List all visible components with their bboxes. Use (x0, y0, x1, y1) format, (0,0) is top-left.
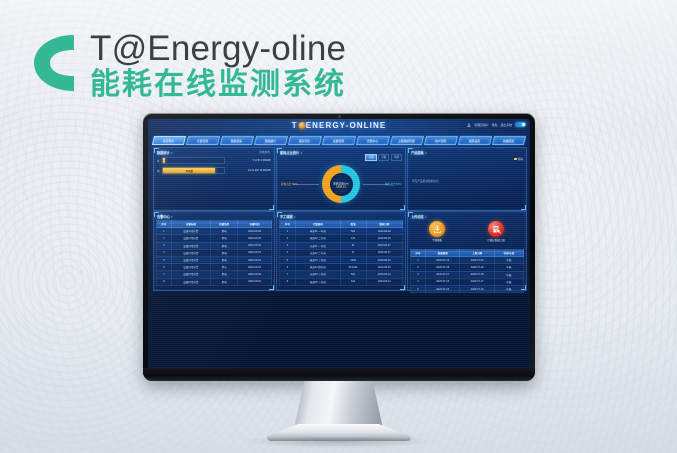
panel-data-statistics: 数据统计▾ 用电用水 水 0 m³/h 0.00kWh 电 用电量 13.21 … (153, 147, 275, 211)
nav-item-5[interactable]: 设备管理 (322, 136, 356, 145)
donut-period-tabs: 日报 月报 年报 (365, 154, 402, 161)
monitor-chin (143, 368, 535, 381)
table-row[interactable]: 42020-07-162020-07-17年报 (411, 278, 524, 285)
cell-0-0: 1 (411, 257, 426, 264)
panel-upload-title: 上传动态▾ (411, 214, 427, 219)
table-row[interactable]: 1电表01 一车间5232020-06-18 (280, 228, 403, 235)
download-template-action[interactable]: 下载模板 (429, 221, 445, 247)
column-header-1: 告警标题 (171, 221, 210, 228)
tab-yearly[interactable]: 年报 (391, 154, 402, 161)
bar-values-0: 0 m³/h 0.00kWh (225, 159, 271, 162)
cell-5-1: 电表04 四车间 (295, 264, 340, 271)
cell-2-3: 年报 (494, 271, 523, 278)
column-header-1: 数据周期 (426, 250, 460, 257)
panel-manual-title: 手工填报▾ (280, 214, 296, 219)
panel-manual-entry: 手工填报▾ 序号计量器具数值填报日期 1电表01 一车间5232020-06-1… (276, 211, 406, 291)
nav-item-6[interactable]: 告警中心 (356, 136, 390, 145)
cell-0-2: 523 (340, 228, 366, 235)
donut-label-right: 耗水占比 50% (385, 182, 401, 186)
table-row[interactable]: 5电表03 三车间12292020-06-15 (280, 256, 403, 263)
cell-6-1: 设备异常告警 (171, 271, 210, 278)
nav-label-1: 计量管理 (197, 139, 208, 143)
legend-label: 能耗 (518, 157, 523, 161)
cell-4-1: 设备异常告警 (171, 256, 210, 263)
table-row[interactable]: 32020-07-172020-07-18年报 (411, 271, 524, 278)
panel-upload-activity: 上传动态▾ 下载模板 已确认数据上报 序号数据周期上报日期状态/年度 12 (407, 211, 527, 291)
chevron-down-icon[interactable]: ▾ (425, 216, 426, 219)
cell-0-2: 用电 (211, 228, 238, 235)
cell-2-1: 2020-07-17 (426, 271, 460, 278)
panel-prod-title-text: 产品能耗 (411, 151, 424, 155)
cell-6-0: 7 (280, 271, 296, 278)
cell-3-1: 设备异常告警 (171, 249, 210, 256)
table-row[interactable]: 6电表04 四车间56.10112020-06-15 (280, 264, 403, 271)
cell-7-0: 8 (280, 278, 296, 285)
cell-1-1: 设备异常告警 (171, 235, 210, 242)
cell-4-1: 2020-07-15 (426, 285, 460, 292)
panel-alarm-title-text: 告警中心 (157, 215, 170, 219)
bar-values-1: 13.21 kW 13.00kWh (225, 169, 271, 172)
donut-center-value: 1256.12 (330, 186, 352, 189)
logout-label[interactable]: 退出系统 (500, 123, 512, 127)
nav-item-8[interactable]: 用户管理 (424, 136, 458, 145)
cell-1-0: 2 (411, 264, 426, 271)
nav-item-9[interactable]: 权限设置 (458, 136, 492, 145)
monitor-stand-neck (294, 381, 384, 431)
cell-4-1: 电表03 三车间 (295, 256, 340, 263)
chevron-down-icon[interactable]: ▾ (171, 152, 172, 155)
nav-item-0[interactable]: 首页概览 (152, 136, 186, 145)
table-row[interactable]: 8设备异常告警用电2020-06-02 (157, 278, 272, 285)
nav-label-9: 权限设置 (470, 139, 481, 143)
column-header-1: 计量器具 (295, 221, 340, 228)
panel-prod-title: 产品能耗▾ (411, 150, 427, 155)
cell-1-1: 2020-07-18 (426, 264, 460, 271)
cell-1-0: 2 (280, 235, 296, 242)
nav-item-1[interactable]: 计量管理 (186, 136, 220, 145)
chevron-down-icon[interactable]: ▾ (171, 216, 172, 219)
bar-row: 水 0 m³/h 0.00kWh (157, 157, 271, 164)
cell-3-2: 2020-07-17 (460, 278, 494, 285)
table-row[interactable]: 2电表02 二车间1312020-06-18 (280, 235, 403, 242)
table-header-row: 序号告警标题告警类型告警时间 (157, 221, 272, 228)
table-row[interactable]: 4水表02 二车间312020-06-17 (280, 249, 403, 256)
bar-fill-text-1: 用电量 (185, 169, 193, 173)
bar-rows: 水 0 m³/h 0.00kWh 电 用电量 13.21 kW 13.00kWh (157, 157, 271, 177)
monitor-stand-shadow (244, 437, 434, 448)
table-row[interactable]: 7设备异常告警用电2020-06-02 (157, 271, 272, 278)
chevron-down-icon[interactable]: ▾ (294, 216, 295, 219)
confirm-upload-action[interactable]: 已确认数据上报 (487, 221, 505, 247)
panel-upload-title-text: 上传动态 (411, 215, 424, 219)
panel-alarm-center: 告警中心▾ 序号告警标题告警类型告警时间 1设备异常告警用电2020-06-05… (153, 211, 275, 291)
donut-center-text: 能耗总量(tce) 1256.12 (330, 183, 352, 190)
column-header-0: 序号 (280, 221, 296, 228)
cell-0-3: 2020-06-18 (366, 228, 402, 235)
panel-bar-subtitle: 用电用水 (259, 150, 270, 154)
at-logo-icon (298, 122, 305, 129)
cell-2-2: 21 (340, 242, 366, 249)
cell-4-3: 2020-06-15 (366, 256, 402, 263)
nav-label-5: 设备管理 (333, 139, 344, 143)
alarm-table: 序号告警标题告警类型告警时间 1设备异常告警用电2020-06-052设备异常告… (156, 220, 272, 286)
table-row[interactable]: 8电表05 三车间6122020-06-11 (280, 278, 403, 285)
dashboard-screen: TENERGY-ONLINE 管理员用户 角色 退出系统 首页概览 计量管理 数… (148, 119, 530, 369)
table-row[interactable]: 12020-07-192020-07-20年报 (411, 257, 524, 264)
cell-1-3: 2020-06-05 (238, 235, 272, 242)
panel-donut-title-text: 能耗占比统计 (280, 151, 299, 155)
cell-2-1: 水表01 一车间 (295, 242, 340, 249)
nav-label-0: 首页概览 (163, 139, 174, 143)
cell-5-0: 6 (157, 264, 172, 271)
table-row[interactable]: 7水表03 三车间5212020-06-13 (280, 271, 403, 278)
cell-6-3: 2020-06-02 (238, 271, 272, 278)
panel-prod-legend: 能耗 (514, 157, 523, 161)
dashboard-title: TENERGY-ONLINE (292, 121, 387, 130)
cell-5-1: 设备异常告警 (171, 264, 210, 271)
cell-2-1: 设备异常告警 (171, 242, 210, 249)
nav-item-2[interactable]: 数据采集 (220, 136, 254, 145)
table-header-row: 序号计量器具数值填报日期 (280, 221, 403, 228)
cell-1-1: 电表02 二车间 (295, 235, 340, 242)
table-header-row: 序号数据周期上报日期状态/年度 (411, 250, 524, 257)
column-header-2: 告警类型 (211, 221, 238, 228)
dashboard-title-suffix: ENERGY-ONLINE (306, 121, 387, 130)
nav-label-7: 上报数据管理 (399, 139, 416, 143)
cell-7-0: 8 (157, 278, 172, 285)
cell-3-2: 用电 (211, 249, 238, 256)
webcam-dot (338, 115, 341, 118)
cell-6-2: 521 (340, 271, 366, 278)
cell-3-0: 4 (411, 278, 426, 285)
manual-table: 序号计量器具数值填报日期 1电表01 一车间5232020-06-182电表02… (279, 220, 403, 286)
panel-manual-title-text: 手工填报 (280, 215, 293, 219)
cell-4-2: 1229 (340, 256, 366, 263)
user-role[interactable]: 角色 (492, 123, 498, 127)
cell-4-2: 2020-07-16 (460, 285, 494, 292)
cell-0-3: 年报 (494, 257, 523, 264)
cell-5-2: 用水 (211, 264, 238, 271)
table-row[interactable]: 1设备异常告警用电2020-06-05 (157, 228, 272, 235)
cell-3-1: 2020-07-16 (426, 278, 460, 285)
table-row[interactable]: 2设备异常告警用电2020-06-05 (157, 235, 272, 242)
cell-0-3: 2020-06-05 (238, 228, 272, 235)
table-row[interactable]: 5设备异常告警用电2020-06-03 (157, 256, 272, 263)
upload-doc-icon (488, 221, 504, 237)
column-header-3: 状态/年度 (494, 250, 523, 257)
dashboard-header: TENERGY-ONLINE 管理员用户 角色 退出系统 (148, 119, 530, 135)
upload-table: 序号数据周期上报日期状态/年度 12020-07-192020-07-20年报2… (410, 249, 524, 293)
cell-3-2: 31 (340, 249, 366, 256)
nav-item-10[interactable]: 系统配置 (492, 136, 526, 145)
download-icon (429, 221, 445, 237)
cell-3-3: 年报 (494, 278, 523, 285)
banner-headline: T@Energy-oline 能耗在线监测系统 (24, 14, 444, 104)
donut-chart: 耗电占比 50% 耗水占比 50% 能耗总量(tce) 1256.12 (277, 165, 405, 207)
nav-label-8: 用户管理 (436, 139, 447, 143)
cell-4-2: 用电 (211, 256, 238, 263)
user-icon (467, 123, 471, 127)
cell-2-0: 3 (280, 242, 296, 249)
cell-4-0: 5 (280, 256, 296, 263)
page-subtitle: 能耗在线监测系统 (90, 68, 346, 102)
cell-2-3: 2020-06-04 (238, 242, 272, 249)
column-header-0: 序号 (411, 250, 426, 257)
bar-fill-1: 用电量 (163, 168, 215, 173)
bar-track-1: 用电量 (162, 167, 225, 174)
tab-daily[interactable]: 日报 (365, 154, 376, 161)
cell-3-0: 4 (280, 249, 296, 256)
column-header-2: 上报日期 (460, 250, 494, 257)
bar-track-0 (162, 157, 225, 164)
cell-7-2: 用电 (211, 278, 238, 285)
table-row[interactable]: 4设备异常告警用电2020-06-04 (157, 249, 272, 256)
column-header-2: 数值 (340, 221, 366, 228)
cell-3-0: 4 (157, 249, 172, 256)
cell-7-3: 2020-06-11 (366, 278, 402, 285)
cell-3-3: 2020-06-04 (238, 249, 272, 256)
table-row[interactable]: 22020-07-182020-07-19年报 (411, 264, 524, 271)
table-row[interactable]: 3水表01 一车间212020-06-17 (280, 242, 403, 249)
nav-item-3[interactable]: 能耗统计 (254, 136, 288, 145)
cell-0-0: 1 (280, 228, 296, 235)
cell-2-3: 2020-06-17 (366, 242, 402, 249)
cell-0-1: 电表01 一车间 (295, 228, 340, 235)
cell-1-2: 用电 (211, 235, 238, 242)
nav-label-2: 数据采集 (231, 139, 242, 143)
nav-label-3: 能耗统计 (265, 139, 276, 143)
chevron-down-icon[interactable]: ▾ (425, 152, 426, 155)
cell-1-2: 2020-07-19 (460, 264, 494, 271)
column-header-3: 告警时间 (238, 221, 272, 228)
panel-product-energy: 产品能耗▾ 能耗 暂无产品能耗数据信息 (407, 147, 527, 211)
cell-6-1: 水表03 三车间 (295, 271, 340, 278)
cell-7-1: 设备异常告警 (171, 278, 210, 285)
user-area[interactable]: 管理员用户 角色 退出系统 (467, 122, 526, 127)
column-header-3: 填报日期 (366, 221, 402, 228)
upload-actions: 下载模板 已确认数据上报 (408, 221, 526, 247)
cell-2-0: 3 (157, 242, 172, 249)
panel-prod-empty-text: 暂无产品能耗数据信息 (412, 179, 439, 183)
cell-5-0: 6 (280, 264, 296, 271)
theme-toggle[interactable] (515, 122, 526, 127)
nav-label-4: 报表分析 (299, 139, 310, 143)
cell-4-0: 5 (411, 285, 426, 292)
cell-0-2: 2020-07-20 (460, 257, 494, 264)
cell-0-0: 1 (157, 228, 172, 235)
column-header-0: 序号 (157, 221, 172, 228)
monitor: TENERGY-ONLINE 管理员用户 角色 退出系统 首页概览 计量管理 数… (143, 113, 535, 381)
nav-label-6: 告警中心 (367, 139, 378, 143)
cell-7-3: 2020-06-02 (238, 278, 272, 285)
donut-label-left: 耗电占比 50% (281, 182, 297, 186)
cell-0-1: 设备异常告警 (171, 228, 210, 235)
table-row[interactable]: 3设备异常告警用电2020-06-04 (157, 242, 272, 249)
panel-bar-title-text: 数据统计 (157, 151, 170, 155)
tab-monthly[interactable]: 月报 (378, 154, 389, 161)
confirm-upload-label: 已确认数据上报 (487, 238, 505, 242)
panel-alarm-title: 告警中心▾ (157, 214, 173, 219)
cell-5-3: 2020-06-15 (366, 264, 402, 271)
cell-4-3: 2020-06-03 (238, 256, 272, 263)
cell-2-2: 2020-07-18 (460, 271, 494, 278)
main-nav: 首页概览 计量管理 数据采集 能耗统计 报表分析 设备管理 告警中心 上报数据管… (153, 136, 525, 145)
cell-1-2: 131 (340, 235, 366, 242)
cell-4-3: 年报 (494, 285, 523, 292)
cell-3-1: 水表02 二车间 (295, 249, 340, 256)
cell-2-2: 用电 (211, 242, 238, 249)
cell-6-2: 用电 (211, 271, 238, 278)
cell-0-1: 2020-07-19 (426, 257, 460, 264)
bar-fill-0 (163, 158, 165, 163)
cell-1-3: 年报 (494, 264, 523, 271)
cell-6-3: 2020-06-13 (366, 271, 402, 278)
cell-1-3: 2020-06-18 (366, 235, 402, 242)
user-name: 管理员用户 (474, 123, 488, 127)
cell-5-3: 2020-06-03 (238, 264, 272, 271)
cell-4-0: 5 (157, 256, 172, 263)
cell-1-0: 2 (157, 235, 172, 242)
bar-row: 电 用电量 13.21 kW 13.00kWh (157, 167, 271, 174)
cell-6-0: 7 (157, 271, 172, 278)
dashboard-title-prefix: T (292, 121, 298, 130)
nav-item-4[interactable]: 报表分析 (288, 136, 322, 145)
cell-7-2: 612 (340, 278, 366, 285)
panel-energy-ratio: 能耗占比统计▾ 日报 月报 年报 耗电占比 50% 耗水占比 50% 能耗总量(… (276, 147, 406, 211)
chevron-down-icon[interactable]: ▾ (301, 152, 302, 155)
panel-donut-title: 能耗占比统计▾ (280, 150, 302, 155)
cell-2-0: 3 (411, 271, 426, 278)
cell-7-1: 电表05 三车间 (295, 278, 340, 285)
cell-5-2: 56.1011 (340, 264, 366, 271)
page-title: T@Energy-oline (90, 30, 346, 68)
table-row[interactable]: 52020-07-152020-07-16年报 (411, 285, 524, 292)
table-row[interactable]: 6设备异常告警用水2020-06-03 (157, 264, 272, 271)
cell-3-3: 2020-06-17 (366, 249, 402, 256)
c-mark-icon (28, 28, 78, 98)
nav-label-10: 系统配置 (504, 139, 515, 143)
panel-bar-title: 数据统计▾ (157, 150, 173, 155)
download-template-label: 下载模板 (432, 238, 442, 242)
legend-swatch-icon (514, 158, 517, 160)
nav-item-7[interactable]: 上报数据管理 (390, 136, 424, 145)
